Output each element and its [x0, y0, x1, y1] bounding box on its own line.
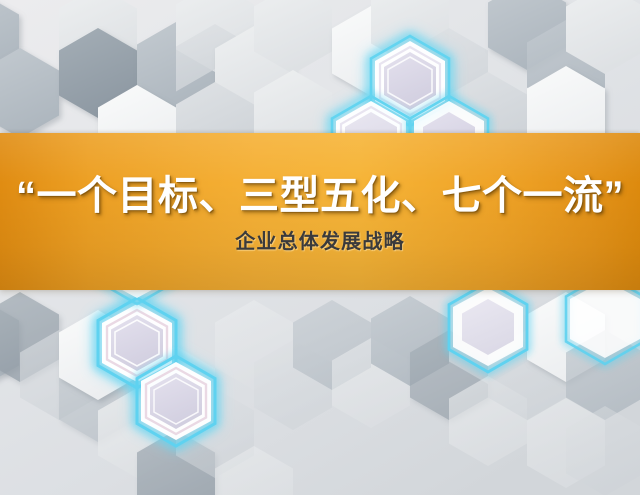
slide-canvas: “一个目标、三型五化、七个一流” 企业总体发展战略 [0, 0, 640, 495]
title-banner: “一个目标、三型五化、七个一流” 企业总体发展战略 [0, 133, 640, 290]
banner-title: “一个目标、三型五化、七个一流” [16, 175, 624, 217]
banner-subtitle: 企业总体发展战略 [235, 231, 405, 253]
